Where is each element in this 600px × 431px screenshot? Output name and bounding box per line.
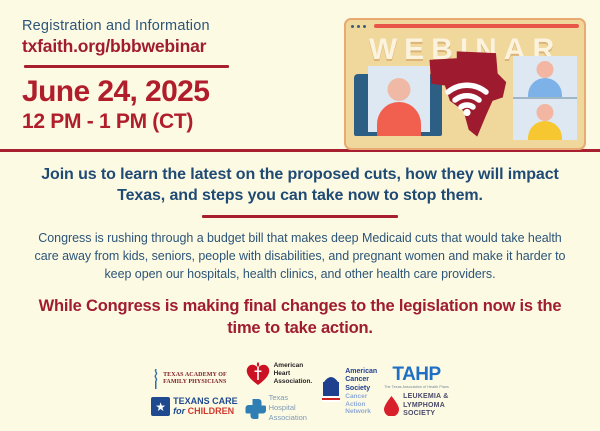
participant-tiles [513, 56, 577, 138]
webinar-illustration: WEBINAR [344, 18, 586, 150]
logo-wordmark: TAHP [384, 365, 449, 384]
window-dot-icon [357, 25, 360, 28]
header-text-block: Registration and Information txfaith.org… [22, 16, 344, 134]
registration-label: Registration and Information [22, 18, 344, 34]
flyer-header: Registration and Information txfaith.org… [0, 6, 600, 146]
event-date: June 24, 2025 [22, 77, 344, 108]
browser-address-bar [374, 24, 579, 28]
star-icon: ★ [151, 397, 170, 416]
call-to-action-text: While Congress is making final changes t… [28, 296, 572, 339]
logo-american-heart-association: AmericanHeartAssociation. [245, 361, 313, 386]
texas-state-icon [424, 48, 510, 140]
logo-text: AmericanHeartAssociation. [274, 362, 313, 386]
event-time: 12 PM - 1 PM (CT) [22, 110, 344, 134]
logo-tahp: TAHP The Texas Association of Health Pla… [384, 365, 449, 389]
logo-texas-hospital-association: TexasHospitalAssociation [245, 393, 313, 422]
logo-text: TEXAS ACADEMY OFFAMILY PHYSICIANS [163, 372, 227, 386]
heart-torch-icon [245, 361, 271, 386]
logo-column-one: TEXAS ACADEMY OFFAMILY PHYSICIANS ★ TEXA… [151, 368, 238, 416]
browser-title-bar [346, 20, 584, 32]
participant-tile [513, 56, 577, 97]
webinar-flyer: Registration and Information txfaith.org… [0, 0, 600, 431]
logo-column-two: AmericanHeartAssociation. TexasHospitalA… [245, 361, 313, 422]
registration-url[interactable]: txfaith.org/bbbwebinar [22, 36, 344, 57]
capitol-building-icon [319, 368, 343, 402]
logo-text: American Cancer Society Cancer Action Ne… [345, 368, 377, 417]
logo-text: LEUKEMIA &LYMPHOMASOCIETY [403, 393, 448, 419]
blood-drop-icon [384, 396, 399, 416]
window-dot-icon [351, 25, 354, 28]
logo-column-three: TAHP The Texas Association of Health Pla… [384, 365, 449, 419]
logo-texans-care-for-children: ★ TEXANS CARE for CHILDREN [151, 397, 238, 416]
header-divider [24, 65, 229, 68]
medical-cross-icon [245, 398, 266, 419]
logo-leukemia-lymphoma-society: LEUKEMIA &LYMPHOMASOCIETY [384, 393, 449, 419]
caduceus-icon [151, 368, 160, 390]
logo-american-cancer-society: American Cancer Society Cancer Action Ne… [319, 368, 377, 417]
logo-subtitle: The Texas Association of Health Plans [384, 385, 449, 389]
logo-text: TEXANS CARE for CHILDREN [173, 397, 238, 416]
logo-text: TexasHospitalAssociation [269, 393, 307, 422]
headline-text: Join us to learn the latest on the propo… [28, 164, 572, 206]
browser-window-frame: WEBINAR [344, 18, 586, 150]
window-dot-icon [363, 25, 366, 28]
logo-texas-academy-family-physicians: TEXAS ACADEMY OFFAMILY PHYSICIANS [151, 368, 238, 390]
body-paragraph: Congress is rushing through a budget bil… [28, 229, 572, 283]
participant-tile [513, 97, 577, 140]
body-divider [202, 215, 398, 218]
partner-logos: TEXAS ACADEMY OFFAMILY PHYSICIANS ★ TEXA… [0, 357, 600, 427]
webinar-stage: WEBINAR [346, 32, 584, 148]
wifi-icon [445, 82, 489, 116]
flyer-body: Join us to learn the latest on the propo… [0, 164, 600, 339]
